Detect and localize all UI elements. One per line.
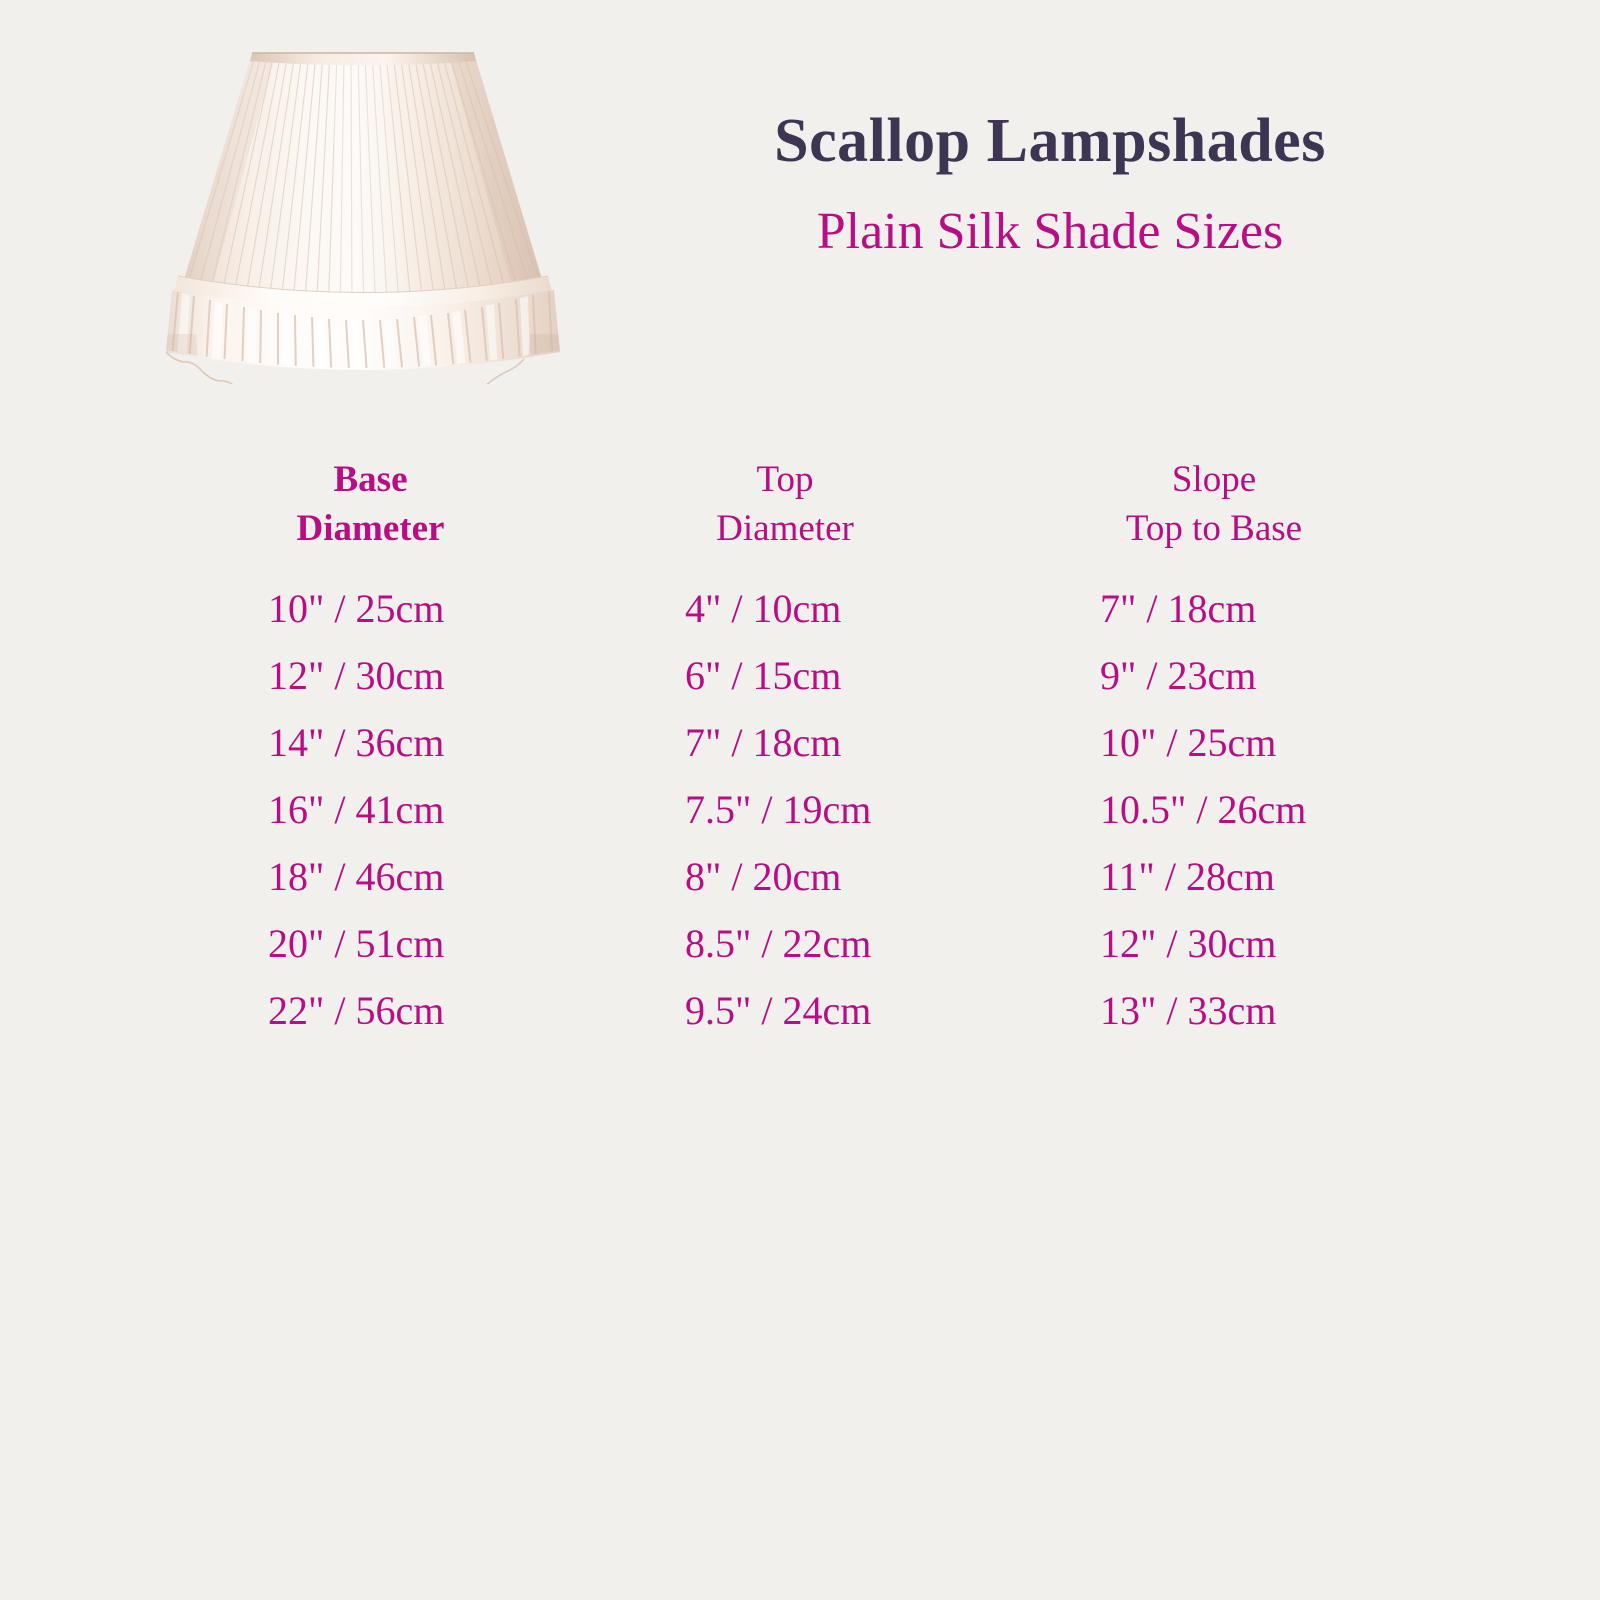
table-row: 9.5" / 24cm <box>685 977 1100 1044</box>
table-row: 7" / 18cm <box>685 709 1100 776</box>
table-gutter <box>0 776 268 843</box>
table-row: 8" / 20cm <box>685 843 1100 910</box>
shade-body <box>182 53 544 316</box>
table-row: 12" / 30cm <box>1100 910 1600 977</box>
table-gutter <box>0 843 268 910</box>
lampshade-illustration <box>148 34 578 384</box>
column-header-base-diameter: Base Diameter <box>268 455 473 575</box>
table-row: 7" / 18cm <box>1100 575 1600 642</box>
size-table-grid: Base Diameter Top Diameter Slope Top to … <box>0 455 1600 1044</box>
table-gutter <box>0 455 268 575</box>
page-title: Scallop Lampshades <box>600 108 1500 175</box>
page-subtitle: Plain Silk Shade Sizes <box>600 203 1500 260</box>
page-root: Scallop Lampshades Plain Silk Shade Size… <box>0 0 1600 1600</box>
table-row: 11" / 28cm <box>1100 843 1600 910</box>
column-header-top-diameter: Top Diameter <box>685 455 885 575</box>
table-row: 8.5" / 22cm <box>685 910 1100 977</box>
header-block: Scallop Lampshades Plain Silk Shade Size… <box>600 108 1500 260</box>
table-row: 6" / 15cm <box>685 642 1100 709</box>
table-row: 4" / 10cm <box>685 575 1100 642</box>
table-gutter <box>0 642 268 709</box>
table-gutter <box>0 575 268 642</box>
column-header-slope-top-to-base: Slope Top to Base <box>1100 455 1328 575</box>
table-row: 13" / 33cm <box>1100 977 1600 1044</box>
table-row: 12" / 30cm <box>268 642 685 709</box>
lampshade-product-image <box>148 34 578 384</box>
table-row: 14" / 36cm <box>268 709 685 776</box>
table-row: 10.5" / 26cm <box>1100 776 1600 843</box>
table-gutter <box>0 977 268 1044</box>
table-row: 20" / 51cm <box>268 910 685 977</box>
table-row: 9" / 23cm <box>1100 642 1600 709</box>
size-table: Base Diameter Top Diameter Slope Top to … <box>0 455 1600 1044</box>
table-row: 10" / 25cm <box>268 575 685 642</box>
table-row: 18" / 46cm <box>268 843 685 910</box>
table-gutter <box>0 709 268 776</box>
table-row: 22" / 56cm <box>268 977 685 1044</box>
table-row: 10" / 25cm <box>1100 709 1600 776</box>
table-gutter <box>0 910 268 977</box>
table-row: 16" / 41cm <box>268 776 685 843</box>
table-row: 7.5" / 19cm <box>685 776 1100 843</box>
